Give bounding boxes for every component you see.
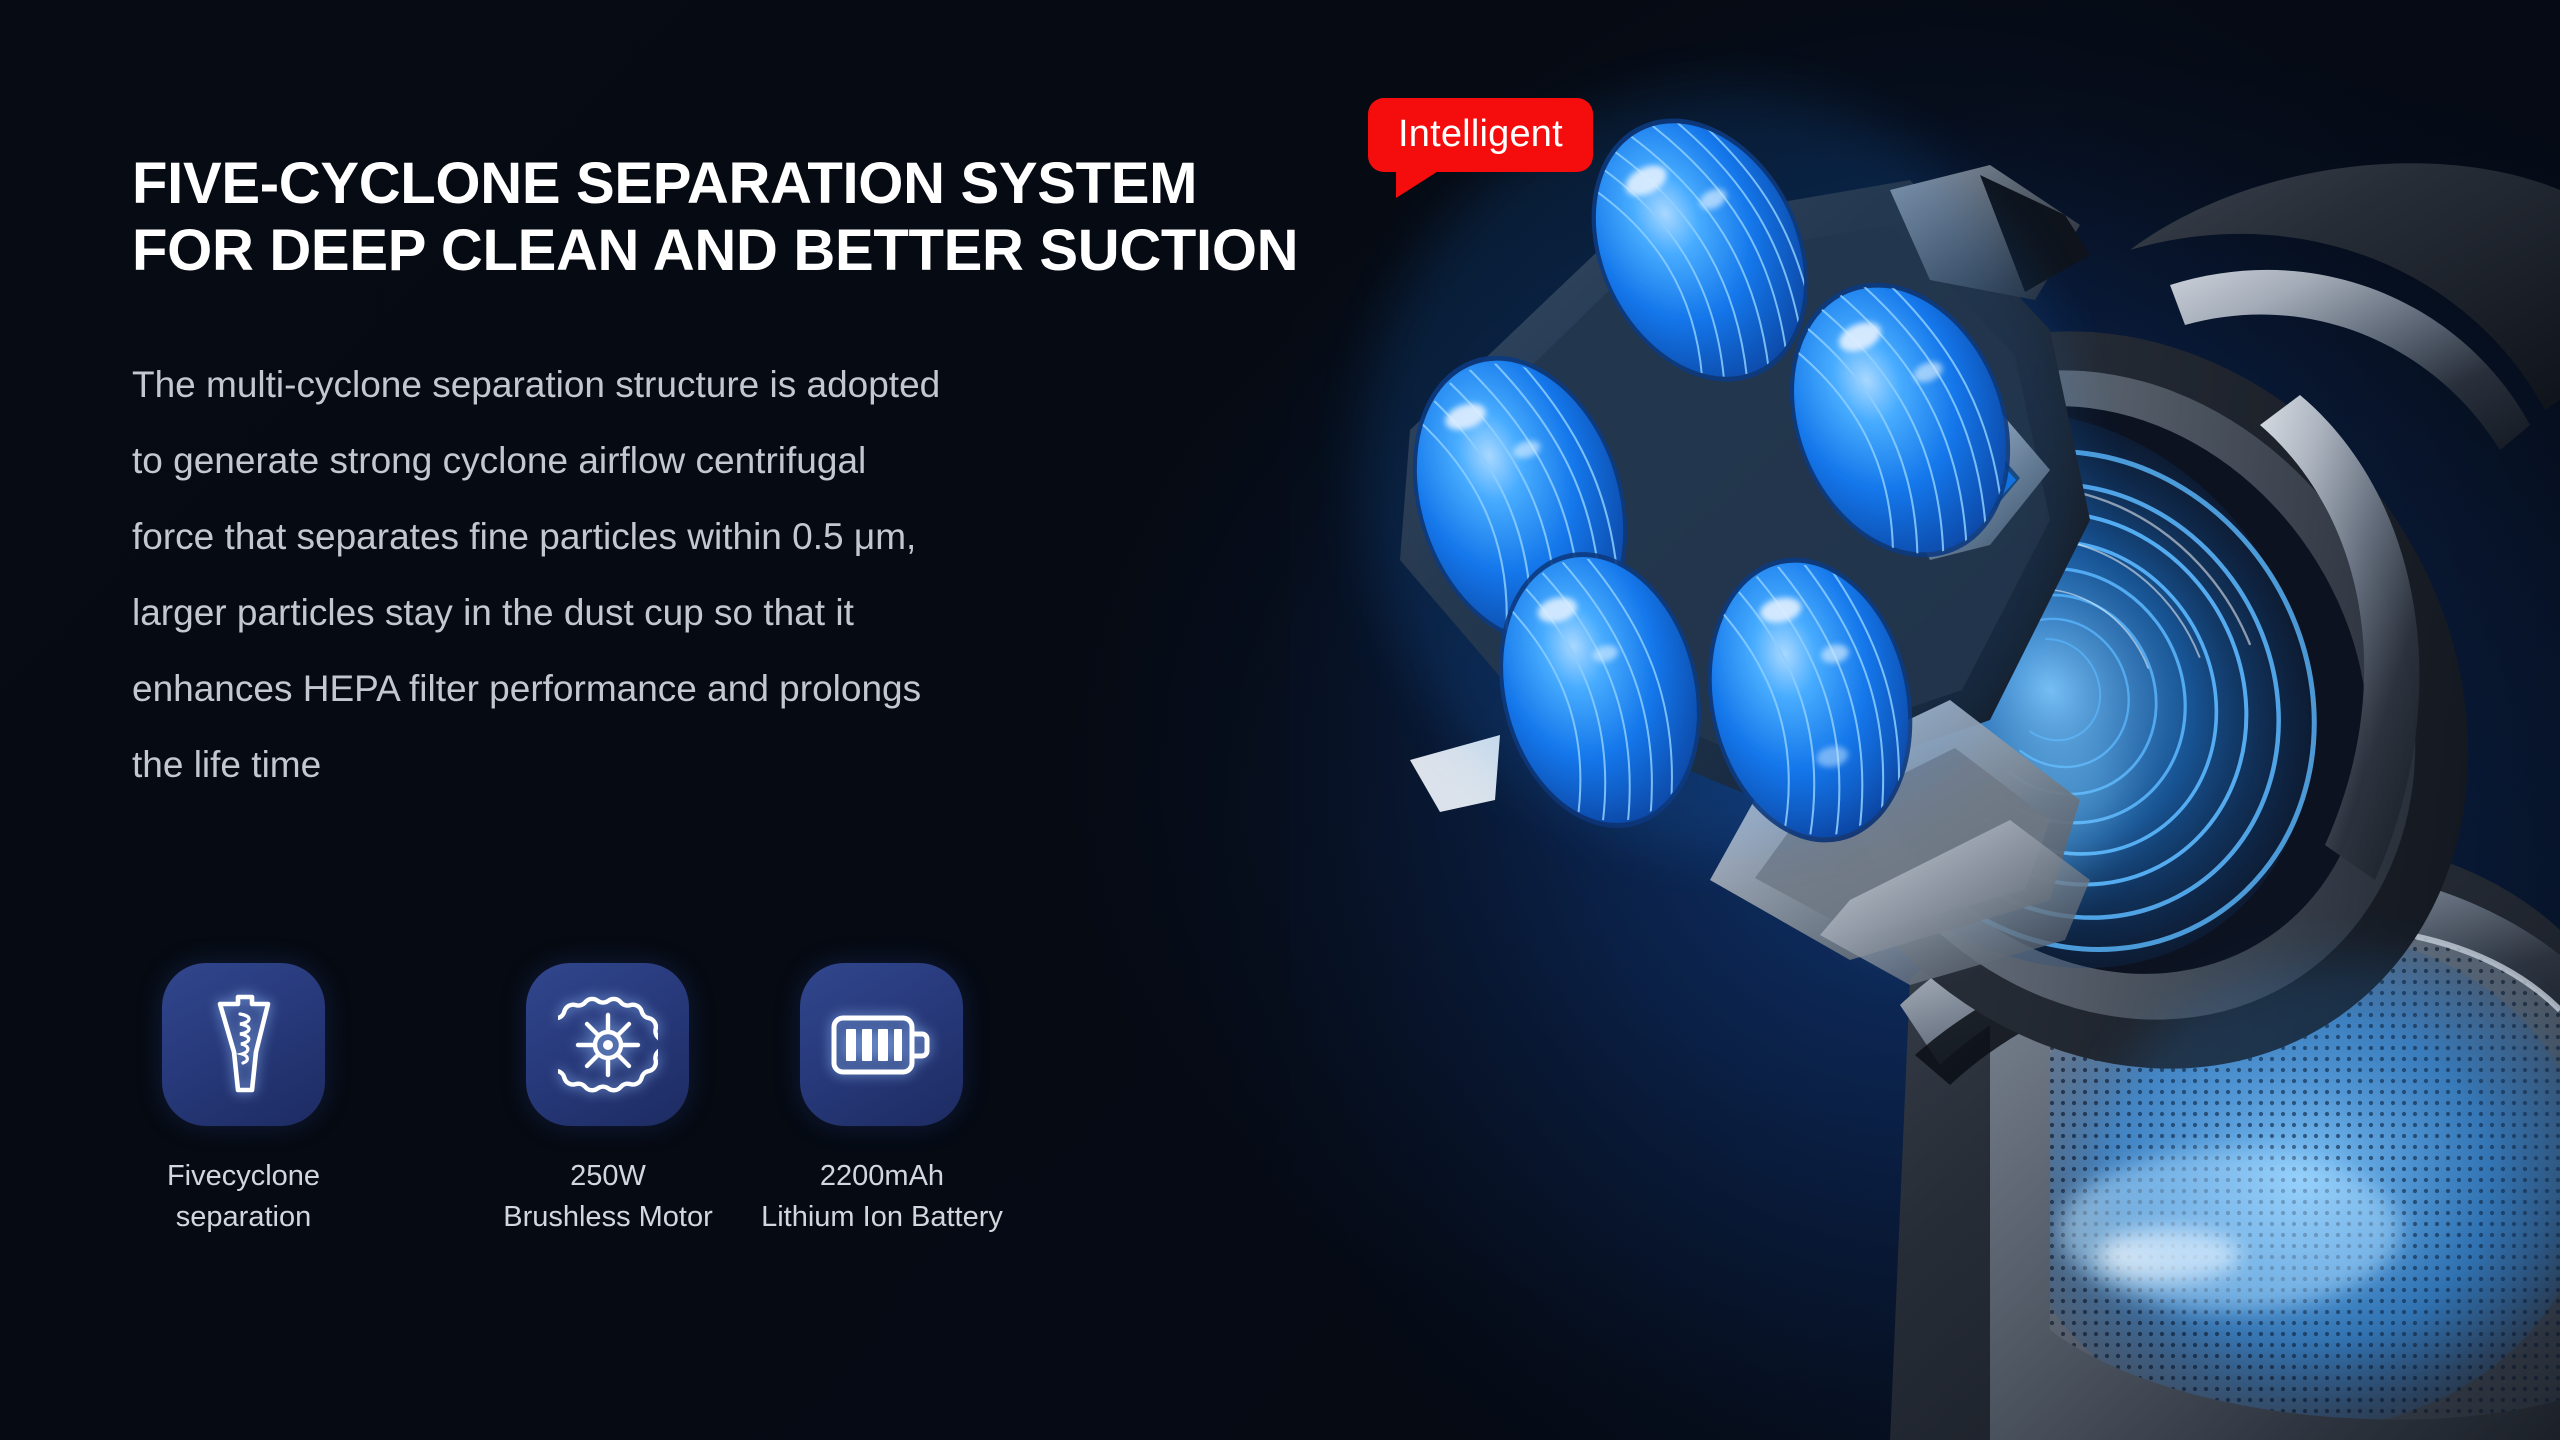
headline-line-2: FOR DEEP CLEAN AND BETTER SUCTION bbox=[132, 217, 1392, 284]
description-paragraph: The multi-cyclone separation structure i… bbox=[132, 347, 1292, 803]
status-badge: Intelligent bbox=[1368, 98, 1593, 172]
feature-caption-battery: 2200mAh Lithium Ion Battery bbox=[732, 1156, 1032, 1238]
cyclone-cone-icon bbox=[198, 990, 290, 1100]
description-line-2: to generate strong cyclone airflow centr… bbox=[132, 423, 1292, 499]
copy-column: FIVE-CYCLONE SEPARATION SYSTEM FOR DEEP … bbox=[132, 150, 1392, 803]
feature-caption-fivecyclone: Fivecyclone separation bbox=[162, 1156, 325, 1238]
product-image bbox=[1290, 0, 2560, 1440]
caption-line-1: 2200mAh bbox=[732, 1156, 1032, 1197]
battery-icon bbox=[830, 1012, 934, 1078]
description-line-3: force that separates fine particles with… bbox=[132, 499, 1292, 575]
headline-line-1: FIVE-CYCLONE SEPARATION SYSTEM bbox=[132, 150, 1392, 217]
caption-line-2: Lithium Ion Battery bbox=[732, 1197, 1032, 1238]
description-line-6: the life time bbox=[132, 727, 1292, 803]
feature-item-fivecyclone: Fivecyclone separation bbox=[162, 963, 427, 1238]
page-title: FIVE-CYCLONE SEPARATION SYSTEM FOR DEEP … bbox=[132, 150, 1392, 285]
cyclone-cone-icon-tile bbox=[162, 963, 325, 1126]
feature-item-battery: 2200mAh Lithium Ion Battery bbox=[692, 963, 957, 1238]
feature-list: Fivecyclone separation bbox=[162, 963, 957, 1238]
description-line-4: larger particles stay in the dust cup so… bbox=[132, 575, 1292, 651]
brushless-motor-icon bbox=[558, 995, 658, 1095]
brushless-motor-icon-tile bbox=[526, 963, 689, 1126]
feature-item-motor: 250W Brushless Motor bbox=[427, 963, 692, 1238]
battery-icon-tile bbox=[800, 963, 963, 1126]
description-line-5: enhances HEPA filter performance and pro… bbox=[132, 651, 1292, 727]
description-line-1: The multi-cyclone separation structure i… bbox=[132, 347, 1292, 423]
caption-line-2: separation bbox=[162, 1197, 325, 1238]
promo-banner: FIVE-CYCLONE SEPARATION SYSTEM FOR DEEP … bbox=[0, 0, 2560, 1440]
caption-line-1: Fivecyclone bbox=[162, 1156, 325, 1197]
